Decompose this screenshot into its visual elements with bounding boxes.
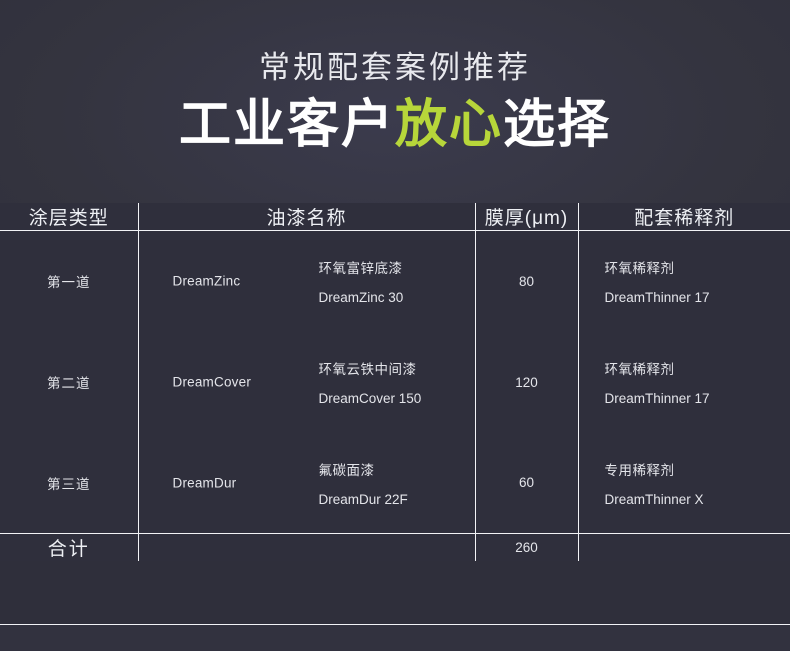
paint-description: 环氧富锌底漆 DreamZinc 30 (319, 257, 404, 305)
promo-spec-page: 常规配套案例推荐 工业客户放心选择 涂层类型 油漆名称 膜厚(μm) 配套稀释剂… (0, 0, 790, 651)
cell-paint-name: DreamDur 氟碳面漆 DreamDur 22F (138, 433, 475, 534)
table-row: 第一道 DreamZinc 环氧富锌底漆 DreamZinc 30 80 环氧稀… (0, 231, 790, 332)
paint-description: 环氧云铁中间漆 DreamCover 150 (319, 358, 422, 406)
cell-paint-name: DreamCover 环氧云铁中间漆 DreamCover 150 (138, 332, 475, 433)
paint-name-cn: 环氧云铁中间漆 (319, 358, 422, 378)
header-matching-thinner: 配套稀释剂 (578, 203, 790, 231)
header-film-thickness: 膜厚(μm) (475, 203, 578, 231)
header-coating-type: 涂层类型 (0, 203, 138, 231)
table-row: 第三道 DreamDur 氟碳面漆 DreamDur 22F 60 专用稀释剂 … (0, 433, 790, 534)
cell-film-thickness: 80 (475, 231, 578, 332)
paint-product-code: DreamDur 22F (319, 492, 408, 507)
thinner-product-code: DreamThinner 17 (605, 391, 710, 406)
footer-strip (0, 625, 790, 651)
banner-subtitle: 常规配套案例推荐 (259, 52, 531, 83)
cell-coating-type: 第二道 (0, 332, 138, 433)
total-film-thickness: 260 (475, 534, 578, 562)
thinner-name-cn: 环氧稀释剂 (605, 257, 710, 277)
total-paint-name-empty (138, 534, 475, 562)
banner-title-part2: 选择 (503, 96, 611, 154)
thinner-product-code: DreamThinner X (605, 492, 704, 507)
paint-brand: DreamZinc (173, 274, 241, 289)
coating-spec-table: 涂层类型 油漆名称 膜厚(μm) 配套稀释剂 第一道 DreamZinc 环氧富… (0, 203, 790, 561)
table-row: 第二道 DreamCover 环氧云铁中间漆 DreamCover 150 12… (0, 332, 790, 433)
paint-description: 氟碳面漆 DreamDur 22F (319, 459, 408, 507)
paint-product-code: DreamCover 150 (319, 391, 422, 406)
cell-film-thickness: 120 (475, 332, 578, 433)
cell-matching-thinner: 环氧稀释剂 DreamThinner 17 (578, 231, 790, 332)
hero-banner: 常规配套案例推荐 工业客户放心选择 (0, 0, 790, 203)
table-total-row: 合计 260 (0, 534, 790, 562)
cell-matching-thinner: 环氧稀释剂 DreamThinner 17 (578, 332, 790, 433)
banner-title-accent: 放心 (395, 96, 503, 154)
thinner-name-cn: 专用稀释剂 (605, 459, 704, 479)
table-header-row: 涂层类型 油漆名称 膜厚(μm) 配套稀释剂 (0, 203, 790, 231)
banner-title: 工业客户放心选择 (179, 99, 611, 151)
paint-brand: DreamCover (173, 375, 252, 390)
thinner-description: 专用稀释剂 DreamThinner X (605, 459, 704, 507)
banner-title-part1: 工业客户 (179, 96, 395, 154)
paint-name-cn: 氟碳面漆 (319, 459, 408, 479)
thinner-description: 环氧稀释剂 DreamThinner 17 (605, 257, 710, 305)
total-thinner-empty (578, 534, 790, 562)
total-label: 合计 (0, 534, 138, 562)
paint-name-cn: 环氧富锌底漆 (319, 257, 404, 277)
thinner-product-code: DreamThinner 17 (605, 290, 710, 305)
cell-coating-type: 第一道 (0, 231, 138, 332)
thinner-description: 环氧稀释剂 DreamThinner 17 (605, 358, 710, 406)
paint-product-code: DreamZinc 30 (319, 290, 404, 305)
cell-film-thickness: 60 (475, 433, 578, 534)
header-paint-name: 油漆名称 (138, 203, 475, 231)
cell-paint-name: DreamZinc 环氧富锌底漆 DreamZinc 30 (138, 231, 475, 332)
paint-brand: DreamDur (173, 475, 237, 490)
cell-matching-thinner: 专用稀释剂 DreamThinner X (578, 433, 790, 534)
thinner-name-cn: 环氧稀释剂 (605, 358, 710, 378)
cell-coating-type: 第三道 (0, 433, 138, 534)
